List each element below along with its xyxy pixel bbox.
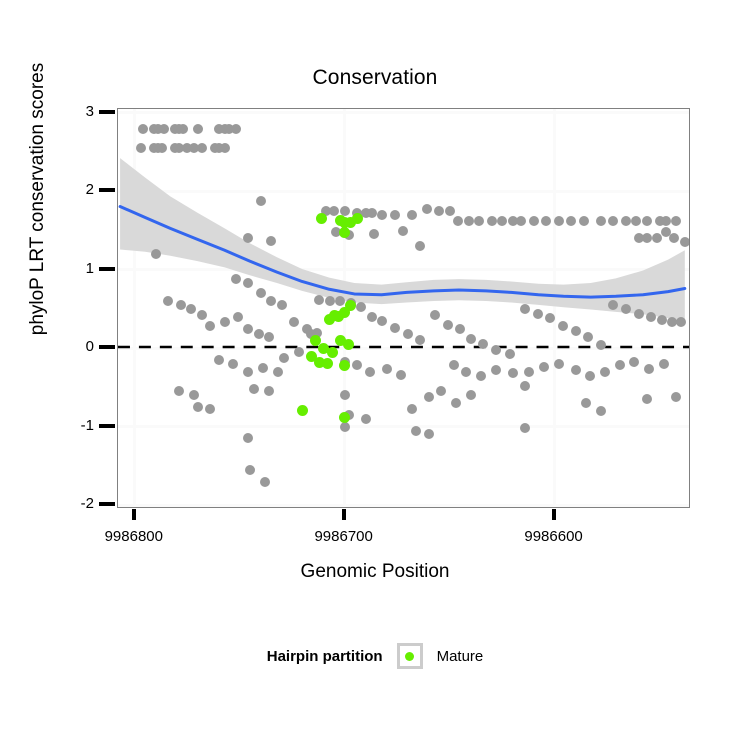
y-tick-label: -1 [50,417,94,434]
chart-root: Conservation -2-10123 998680099867009986… [0,0,750,750]
x-tick-mark [552,509,556,520]
x-tick-label: 9986700 [289,528,399,545]
x-tick-mark [132,509,136,520]
y-tick-mark [99,424,115,428]
y-tick-mark [99,188,115,192]
y-axis-title: phyloP LRT conservation scores [27,0,49,409]
x-tick-mark [342,509,346,520]
loess-trend-line [118,109,689,507]
legend-dot-icon [405,652,414,661]
legend: Hairpin partition Mature [0,643,750,669]
plot-panel [117,108,690,508]
trend-line-stroke [120,207,685,298]
x-axis-title: Genomic Position [0,561,750,583]
y-tick-mark [99,110,115,114]
y-tick-label: 3 [50,103,94,120]
x-tick-label: 9986800 [79,528,189,545]
y-tick-mark [99,345,115,349]
y-tick-mark [99,502,115,506]
y-tick-mark [99,267,115,271]
x-tick-label: 9986600 [499,528,609,545]
y-tick-label: 2 [50,181,94,198]
legend-label-mature: Mature [437,648,484,665]
y-tick-label: 1 [50,260,94,277]
y-tick-label: 0 [50,338,94,355]
legend-key-mature[interactable] [397,643,423,669]
chart-title: Conservation [0,66,750,90]
y-tick-label: -2 [50,495,94,512]
legend-title: Hairpin partition [267,648,383,665]
